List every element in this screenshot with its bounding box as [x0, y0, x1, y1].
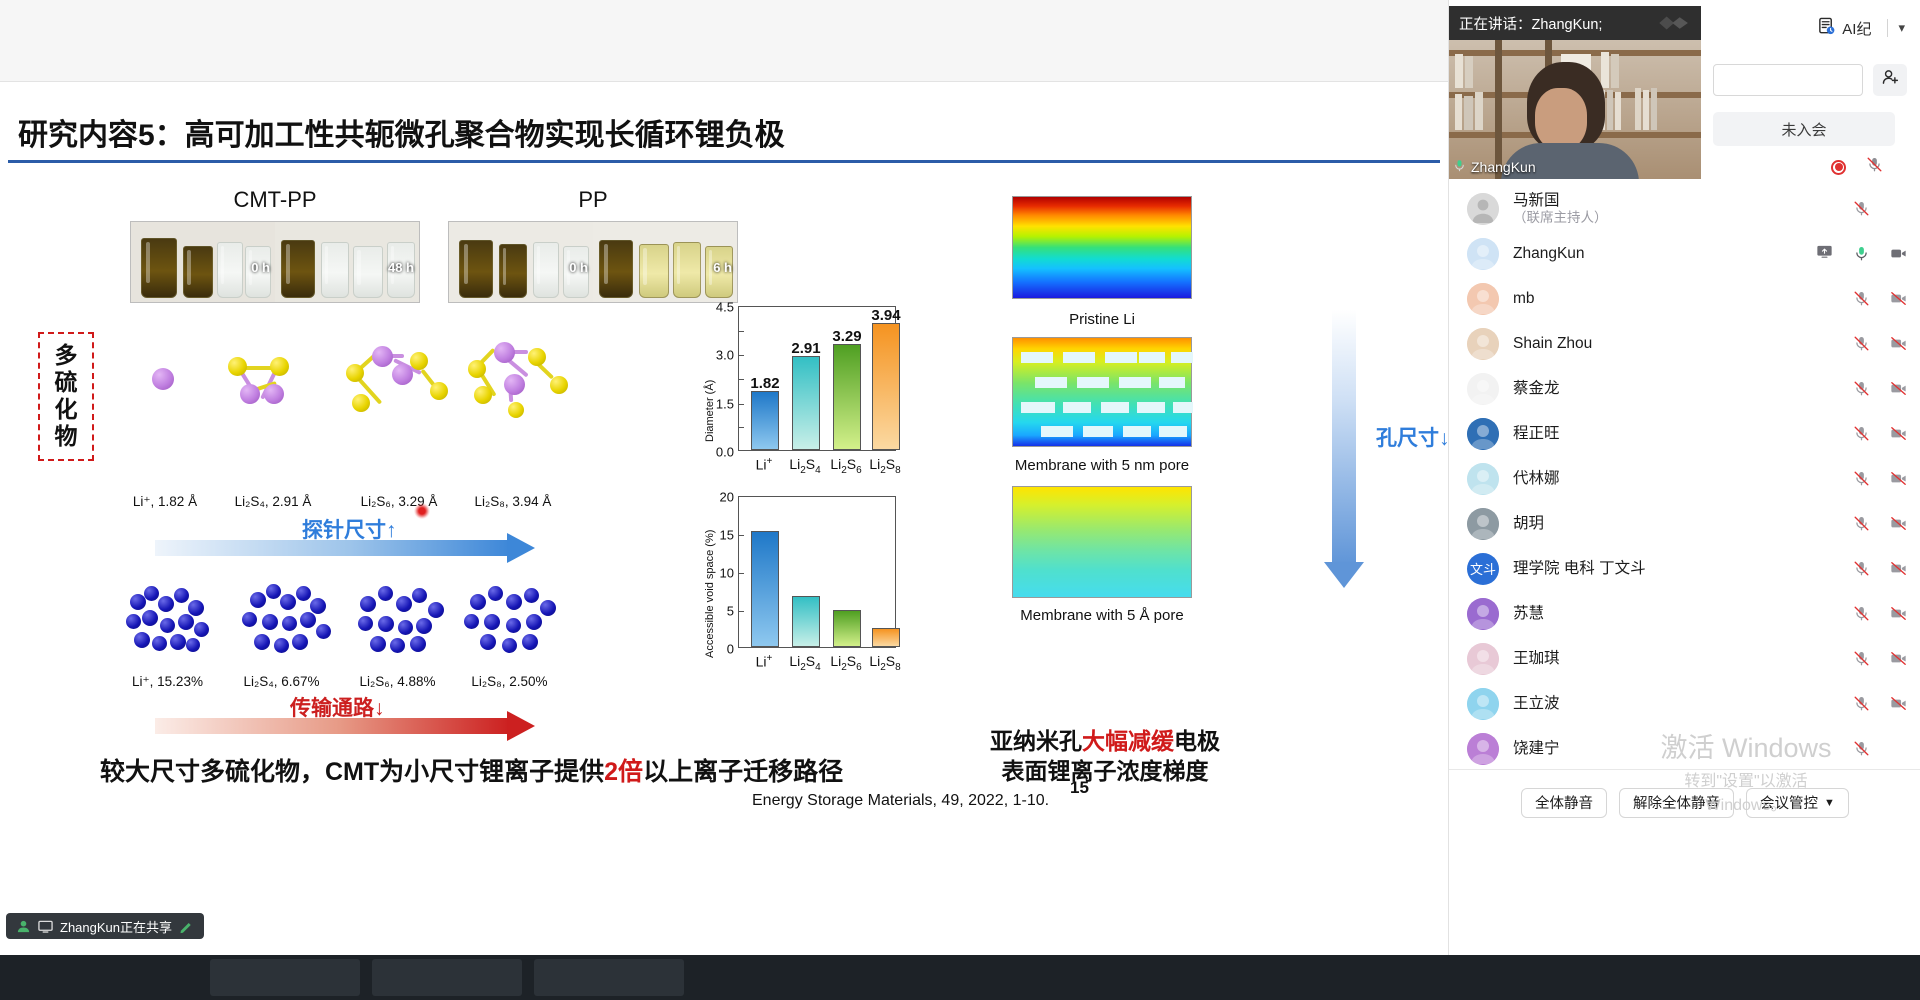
participant-status-icons [1853, 515, 1907, 532]
pore-size-arrow-label: 孔尺寸↓ [1376, 422, 1448, 452]
bar-li [751, 531, 779, 647]
y-tick: 15 [720, 528, 734, 543]
participant-name: mb [1513, 290, 1853, 308]
participant-row[interactable]: 程正旺 [1449, 411, 1920, 456]
bottom-conclusion-post: 以上离子迁移路径 [643, 758, 843, 786]
participant-row[interactable]: 文斗理学院 电科 丁文斗 [1449, 546, 1920, 591]
participant-name: Shain Zhou [1513, 335, 1853, 353]
os-taskbar[interactable] [0, 955, 1920, 1000]
sim-pristine-li [1012, 196, 1192, 299]
mic-active-icon[interactable] [1853, 245, 1870, 262]
camera-off-icon[interactable] [1890, 470, 1907, 487]
vial-time-label: 6 h [713, 260, 732, 275]
vial-group-label: CMT-PP [130, 187, 420, 213]
avatar [1467, 688, 1499, 720]
shared-screen-area: 研究内容5：高可加工性共轭微孔聚合物实现长循环锂负极 CMT-PP 0 h [0, 0, 1448, 955]
participant-list[interactable]: 马新国（联席主持人） ZhangKun mb Shain Zhou [1449, 186, 1920, 769]
mic-muted-icon[interactable] [1853, 515, 1870, 532]
mic-muted-icon[interactable] [1853, 380, 1870, 397]
participant-name: 王立波 [1513, 695, 1853, 713]
participant-status-icons [1816, 243, 1907, 265]
bar-value: 3.94 [871, 307, 900, 324]
avatar [1467, 418, 1499, 450]
speaker-name-badge: ZhangKun [1453, 159, 1536, 175]
bar-li2s8 [872, 323, 900, 450]
participant-status-icons [1853, 605, 1907, 622]
bar-value: 2.91 [791, 340, 820, 357]
molecule-li2s8 [462, 336, 587, 418]
active-speaker-tile[interactable]: 正在讲话：ZhangKun; [1449, 6, 1701, 179]
porous-cluster-li [122, 580, 218, 652]
mic-muted-icon[interactable] [1853, 560, 1870, 577]
camera-active-icon[interactable] [1890, 245, 1907, 262]
mic-muted-icon[interactable] [1853, 290, 1870, 307]
avatar [1467, 463, 1499, 495]
unmute-all-button[interactable]: 解除全体静音 [1619, 788, 1734, 818]
y-tick: 10 [720, 566, 734, 581]
bar-li2s4 [792, 356, 820, 450]
participant-name: 代林娜 [1513, 470, 1853, 488]
bar-li [751, 391, 779, 450]
chevron-down-icon: ▼ [1824, 797, 1835, 809]
bar-li2s8 [872, 628, 900, 647]
participant-status-icons [1853, 650, 1907, 667]
mic-active-icon [1453, 159, 1466, 175]
y-tick: 0.0 [716, 445, 734, 460]
meeting-controls-button[interactable]: 会议管控 ▼ [1746, 788, 1849, 818]
avatar: 文斗 [1467, 553, 1499, 585]
mute-all-label: 全体静音 [1535, 792, 1593, 813]
speaker-video-feed: ZhangKun [1449, 40, 1701, 179]
porous-caption: Li₂S₄, 6.67% [214, 674, 349, 689]
taskbar-thumbnail[interactable] [372, 959, 522, 996]
participant-status-icons [1853, 740, 1907, 757]
add-user-icon [1881, 68, 1900, 92]
record-icon[interactable] [1831, 160, 1846, 175]
participant-row[interactable]: 蔡金龙 [1449, 366, 1920, 411]
transport-path-arrow [155, 718, 540, 734]
meeting-participants-panel: AI纪 ▾ ✕ 未入会 [1448, 0, 1920, 955]
vial-group-label: PP [448, 187, 738, 213]
participant-row[interactable]: 代林娜 [1449, 456, 1920, 501]
chart-void-ylabel: Accessible void space (%) [704, 530, 716, 658]
participant-row[interactable]: mb [1449, 276, 1920, 321]
y-tick: 4.5 [716, 300, 734, 315]
screen-share-indicator[interactable]: ZhangKun正在共享 [6, 913, 204, 939]
participant-row[interactable]: ZhangKun [1449, 231, 1920, 276]
chart-void-space: Accessible void space (%) 20 15 10 5 0 L… [700, 490, 900, 690]
chart-diameter: Diameter (Å) 4.5 3.0 1.5 0.0 1.82 [700, 300, 900, 490]
vial-time-label: 0 h [251, 260, 270, 275]
participant-name: 蔡金龙 [1513, 380, 1853, 398]
bottom-conclusion-highlight: 2倍 [604, 758, 643, 786]
bottom-conclusion-pre: 较大尺寸多硫化物，CMT为小尺寸锂离子提供 [100, 758, 604, 786]
not-joined-tab[interactable]: 未入会 [1713, 112, 1895, 146]
bar-li2s6 [833, 610, 861, 647]
porous-caption: Li₂S₈, 2.50% [442, 674, 577, 689]
y-tick: 0 [727, 642, 734, 657]
avatar [1467, 238, 1499, 270]
vial-strip: 0 h 6 h [448, 221, 738, 303]
active-speaker-text: 正在讲话：ZhangKun; [1459, 13, 1602, 34]
porous-cluster-li2s6 [354, 580, 450, 652]
molecule-caption: Li₂S₆, 3.29 Å [334, 494, 464, 509]
camera-off-icon[interactable] [1890, 380, 1907, 397]
participant-row[interactable]: 王立波 [1449, 681, 1920, 726]
participant-name: 饶建宁 [1513, 740, 1853, 758]
participant-name: 马新国（联席主持人） [1513, 192, 1853, 225]
camera-off-icon[interactable] [1890, 560, 1907, 577]
sim-caption: Membrane with 5 nm pore [1015, 457, 1189, 474]
camera-off-icon[interactable] [1890, 605, 1907, 622]
bar-value: 3.29 [832, 328, 861, 345]
camera-off-icon[interactable] [1890, 425, 1907, 442]
polysulfide-callout: 多硫化物 [38, 332, 94, 461]
mic-muted-icon[interactable] [1853, 335, 1870, 352]
x-tick: Li+ [756, 456, 773, 473]
ai-notes-label: AI纪 [1842, 18, 1871, 39]
ai-notes-button[interactable]: AI纪 [1811, 13, 1877, 44]
participant-name: 王珈琪 [1513, 650, 1853, 668]
mic-muted-icon[interactable] [1853, 605, 1870, 622]
bar-value: 1.82 [750, 375, 779, 392]
participant-row[interactable]: 王珈琪 [1449, 636, 1920, 681]
camera-placeholder [1890, 740, 1907, 757]
mute-all-button[interactable]: 全体静音 [1521, 788, 1607, 818]
bar-li2s4 [792, 596, 820, 647]
molecule-li2s4 [210, 344, 320, 414]
mouse-cursor-highlight [414, 503, 430, 519]
slide-page-number: 15 [1070, 778, 1089, 798]
vial-strip: 0 h 48 h [130, 221, 420, 303]
participant-row[interactable]: Shain Zhou [1449, 321, 1920, 366]
porous-cluster-li2s4 [240, 580, 336, 652]
sim-caption: Pristine Li [1069, 311, 1135, 328]
molecule-li2s6 [338, 338, 463, 418]
add-participant-button[interactable] [1873, 64, 1907, 96]
x-tick: Li2S6 [830, 653, 861, 673]
chart-diameter-ylabel: Diameter (Å) [704, 380, 716, 442]
avatar [1467, 643, 1499, 675]
camera-off-icon[interactable] [1890, 650, 1907, 667]
slide-bottom-conclusion: 较大尺寸多硫化物，CMT为小尺寸锂离子提供2倍以上离子迁移路径 [100, 752, 843, 788]
participant-name: 理学院 电科 丁文斗 [1513, 560, 1853, 578]
x-tick: Li+ [756, 653, 773, 670]
participant-row[interactable]: 胡玥 [1449, 501, 1920, 546]
presentation-slide: 研究内容5：高可加工性共轭微孔聚合物实现长循环锂负极 CMT-PP 0 h [0, 82, 1448, 955]
chart-void-plot: 20 15 10 5 0 [738, 496, 896, 648]
participant-status-icons [1853, 200, 1907, 217]
slide-title: 研究内容5：高可加工性共轭微孔聚合物实现长循环锂负极 [18, 110, 1418, 154]
participant-status-icons [1853, 380, 1907, 397]
avatar [1467, 328, 1499, 360]
active-speaker-banner: 正在讲话：ZhangKun; [1449, 6, 1701, 40]
y-tick: 3.0 [716, 348, 734, 363]
x-tick: Li2S8 [869, 653, 900, 673]
participant-row[interactable]: 饶建宁 [1449, 726, 1920, 769]
speaker-name-text: ZhangKun [1471, 159, 1536, 175]
taskbar-thumbnail[interactable] [210, 959, 360, 996]
taskbar-thumbnail[interactable] [534, 959, 684, 996]
avatar [1467, 733, 1499, 765]
header-divider [1887, 19, 1888, 37]
x-tick: Li2S4 [789, 653, 820, 673]
screen-share-label: ZhangKun正在共享 [60, 917, 172, 936]
participant-status-icons [1853, 560, 1907, 577]
unmute-all-label: 解除全体静音 [1633, 792, 1720, 813]
right-conclusion-pre: 亚纳米孔 [990, 728, 1082, 754]
sim-caption: Membrane with 5 Å pore [1020, 607, 1183, 624]
participant-list-footer: 全体静音 解除全体静音 会议管控 ▼ [1449, 769, 1920, 835]
vial-cell: 48 h [275, 222, 419, 302]
camera-off-icon[interactable] [1890, 335, 1907, 352]
avatar [1467, 193, 1499, 225]
y-tick: 20 [720, 490, 734, 505]
right-conclusion-line2: 表面锂离子浓度梯度 [940, 757, 1270, 787]
participant-row[interactable]: 苏慧 [1449, 591, 1920, 636]
participant-name: 胡玥 [1513, 515, 1853, 533]
chevron-down-icon[interactable]: ▾ [1898, 20, 1905, 36]
chart-diameter-plot: 4.5 3.0 1.5 0.0 1.82 2.91 3.29 [738, 306, 896, 451]
mic-muted-icon[interactable] [1853, 425, 1870, 442]
mic-muted-icon[interactable] [1853, 650, 1870, 667]
y-tick: 5 [727, 604, 734, 619]
x-tick: Li2S4 [789, 456, 820, 476]
avatar [1467, 373, 1499, 405]
participant-status-icons [1853, 290, 1907, 307]
participant-status-icons [1853, 335, 1907, 352]
camera-off-icon[interactable] [1890, 290, 1907, 307]
molecule-li [130, 350, 200, 408]
porous-cluster-li2s8 [462, 580, 558, 652]
vial-time-label: 0 h [569, 260, 588, 275]
screen: 研究内容5：高可加工性共轭微孔聚合物实现长循环锂负极 CMT-PP 0 h [0, 0, 1920, 1000]
avatar [1467, 508, 1499, 540]
participant-name: ZhangKun [1513, 245, 1816, 263]
probe-size-arrow [155, 540, 540, 556]
x-tick: Li2S8 [869, 456, 900, 476]
share-user-icon [16, 919, 31, 934]
right-conclusion-post: 电极 [1174, 728, 1220, 754]
camera-off-icon[interactable] [1890, 695, 1907, 712]
participant-status-icons [1853, 470, 1907, 487]
search-input[interactable] [1713, 64, 1863, 96]
app-logo-icon [1657, 14, 1691, 32]
vial-cell: 0 h [131, 222, 275, 302]
vial-cell: 6 h [593, 222, 737, 302]
avatar [1467, 598, 1499, 630]
avatar [1467, 283, 1499, 315]
ai-notes-icon [1817, 17, 1836, 40]
screen-icon [38, 919, 53, 934]
recording-row [1713, 150, 1895, 184]
right-conclusion-highlight: 大幅减缓 [1082, 728, 1174, 754]
x-tick: Li2S6 [830, 456, 861, 476]
sim-membrane-5a [1012, 486, 1192, 598]
polysulfide-callout-label: 多硫化物 [46, 342, 86, 451]
participant-status-icons [1853, 695, 1907, 712]
not-joined-label: 未入会 [1781, 119, 1826, 140]
annotate-pen-icon[interactable] [179, 919, 194, 934]
sim-membrane-5nm [1012, 337, 1192, 447]
slide-reference: Energy Storage Materials, 49, 2022, 1-10… [752, 792, 1049, 810]
speaker-face-shape [1535, 88, 1587, 150]
mic-muted-icon[interactable] [1853, 740, 1870, 757]
y-tick: 1.5 [716, 396, 734, 411]
participant-status-icons [1853, 425, 1907, 442]
slide-right-conclusion: 亚纳米孔大幅减缓电极 表面锂离子浓度梯度 [940, 727, 1270, 787]
shared-app-toolbar [0, 0, 1448, 82]
camera-off-icon[interactable] [1890, 515, 1907, 532]
mic-muted-icon[interactable] [1853, 470, 1870, 487]
participant-role: （联席主持人） [1513, 210, 1853, 226]
participant-row[interactable]: 马新国（联席主持人） [1449, 186, 1920, 231]
mic-muted-icon[interactable] [1853, 200, 1870, 217]
molecule-caption: Li₂S₄, 2.91 Å [208, 494, 338, 509]
participant-name: 苏慧 [1513, 605, 1853, 623]
mic-muted-icon[interactable] [1853, 695, 1870, 712]
participant-name: 程正旺 [1513, 425, 1853, 443]
camera-placeholder [1890, 200, 1907, 217]
mic-muted-icon[interactable] [1866, 156, 1883, 178]
bar-li2s6 [833, 344, 861, 450]
screen-share-icon[interactable] [1816, 243, 1833, 265]
meeting-controls-label: 会议管控 [1760, 792, 1818, 813]
vial-cell: 0 h [449, 222, 593, 302]
molecule-caption: Li₂S₈, 3.94 Å [448, 494, 578, 509]
title-underline [8, 160, 1440, 163]
vial-time-label: 48 h [388, 260, 414, 275]
pore-size-arrow [1324, 310, 1364, 602]
